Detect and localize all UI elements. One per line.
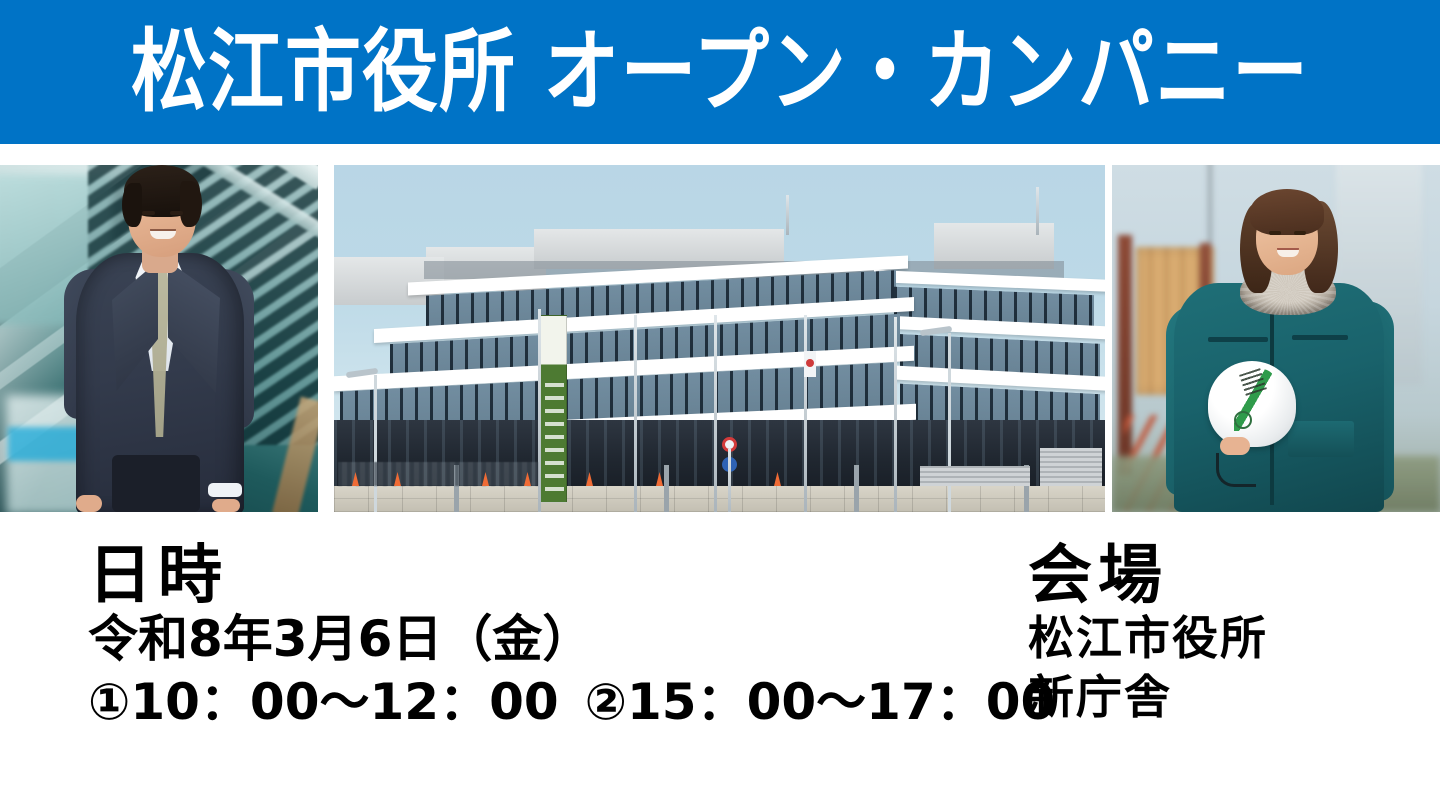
venue-line-1: 松江市役所	[1028, 609, 1268, 668]
photo-young-man-in-suit	[0, 165, 318, 512]
stone-base-wall	[334, 486, 1105, 512]
header-banner: 松江市役所 オープン・カンパニー	[0, 0, 1440, 144]
hard-hat-chinstrap	[1216, 453, 1256, 487]
japan-flag	[804, 351, 816, 377]
venue-heading: 会場	[1028, 544, 1268, 609]
photo-city-hall-building	[334, 165, 1105, 512]
eye-left	[142, 211, 155, 215]
hard-hat-logo	[1234, 411, 1252, 429]
column-2	[664, 465, 669, 512]
venue-column: 会場 松江市役所 新庁舎	[1028, 544, 1268, 727]
session-2-time: 15：00〜17：00	[627, 673, 1055, 731]
event-sessions: ①10：00〜12：00②15：00〜17：00	[88, 672, 1055, 733]
roof-antenna-right	[1036, 187, 1039, 235]
datetime-column: 日時 令和8年3月6日（金） ①10：00〜12：00②15：00〜17：00	[88, 544, 1055, 733]
hand-right	[212, 499, 240, 512]
photo-center-scene	[334, 165, 1105, 512]
hair-top	[1250, 189, 1324, 235]
cyan-signage	[8, 427, 86, 461]
banner-title: 松江市役所 オープン・カンパニー	[131, 27, 1309, 117]
trousers	[112, 455, 200, 512]
datetime-heading: 日時	[88, 544, 1055, 609]
eye-right	[170, 211, 183, 215]
smile	[1277, 250, 1299, 257]
info-section: 日時 令和8年3月6日（金） ①10：00〜12：00②15：00〜17：00 …	[0, 512, 1440, 810]
flagpole-4	[894, 317, 897, 512]
coat-pocket-flap	[1288, 421, 1354, 457]
hair-side-left	[122, 183, 142, 227]
smile	[150, 231, 176, 239]
eye-left	[1269, 231, 1281, 235]
photo-right-scene	[1112, 165, 1440, 512]
eye-right	[1294, 231, 1306, 235]
entrance-steps	[920, 466, 1030, 486]
roof-antenna-mid	[786, 195, 789, 235]
venue-line-2: 新庁舎	[1028, 668, 1268, 727]
traffic-sign-pole	[728, 449, 731, 512]
flagpole-1	[634, 315, 637, 512]
session-1-time: 10：00〜12：00	[130, 673, 558, 731]
session-1-marker: ①	[88, 673, 130, 731]
photo-strip	[0, 165, 1440, 512]
bicycle-parking	[338, 462, 538, 486]
poster-root: 松江市役所 オープン・カンパニー	[0, 0, 1440, 810]
shirt-cuff-right	[208, 483, 242, 497]
hair-side-right	[180, 181, 202, 227]
photo-young-woman-with-helmet	[1112, 165, 1440, 512]
chest-pocket-right	[1292, 335, 1348, 340]
hand-left	[76, 495, 102, 512]
street-lamp-left	[374, 375, 377, 512]
column-3	[854, 465, 859, 512]
chest-pocket-left	[1208, 337, 1268, 342]
session-2-marker: ②	[585, 673, 627, 731]
side-stairs	[1040, 448, 1102, 486]
event-date: 令和8年3月6日（金）	[88, 609, 1055, 670]
flagpole-3	[804, 315, 807, 512]
flagpole-2	[714, 315, 717, 512]
photo-left-scene	[0, 165, 318, 512]
green-vertical-banner	[540, 315, 567, 503]
banner-pole	[538, 309, 541, 512]
